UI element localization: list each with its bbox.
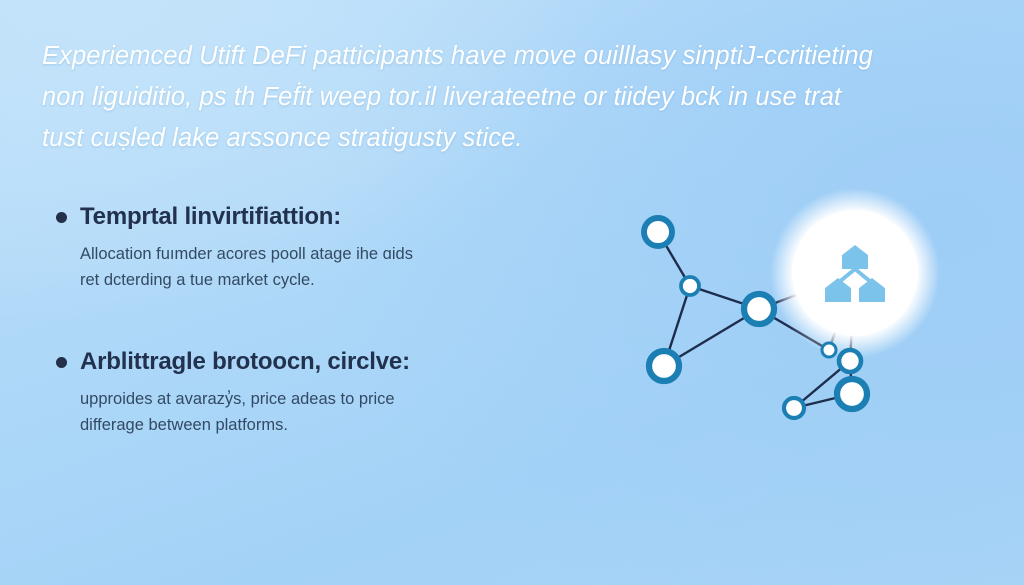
bullet-title: Arblittragle brotoocn, circlve: bbox=[80, 345, 410, 378]
bullet-heading-row: Temprtal linvirtifiattion: bbox=[56, 200, 526, 233]
network-node bbox=[649, 351, 679, 381]
list-item: Arblittragle brotoocn, circlve: upproide… bbox=[56, 345, 526, 438]
list-item: Temprtal linvirtifiattion: Allocation fu… bbox=[56, 200, 526, 293]
bullet-heading-row: Arblittragle brotoocn, circlve: bbox=[56, 345, 526, 378]
network-node bbox=[644, 218, 672, 246]
bullet-dot-icon bbox=[56, 212, 67, 223]
bullet-body: Allocation fuımder acores pooll atage ih… bbox=[80, 241, 526, 293]
network-node bbox=[839, 350, 861, 372]
network-diagram bbox=[600, 185, 972, 453]
network-node bbox=[744, 294, 774, 324]
network-node bbox=[822, 343, 836, 357]
bullet-dot-icon bbox=[56, 357, 67, 368]
bullet-body: upproides at avarazy̓s, price adeas to p… bbox=[80, 386, 526, 438]
hierarchy-badge bbox=[770, 188, 940, 358]
network-node bbox=[837, 379, 867, 409]
network-node bbox=[784, 398, 804, 418]
intro-paragraph: Experiemced Utift DeFi patticipants have… bbox=[42, 36, 988, 159]
network-node bbox=[681, 277, 699, 295]
slide-canvas: Experiemced Utift DeFi patticipants have… bbox=[0, 0, 1024, 585]
bullet-list: Temprtal linvirtifiattion: Allocation fu… bbox=[56, 200, 526, 438]
bullet-title: Temprtal linvirtifiattion: bbox=[80, 200, 341, 233]
badge-circle bbox=[792, 210, 918, 336]
